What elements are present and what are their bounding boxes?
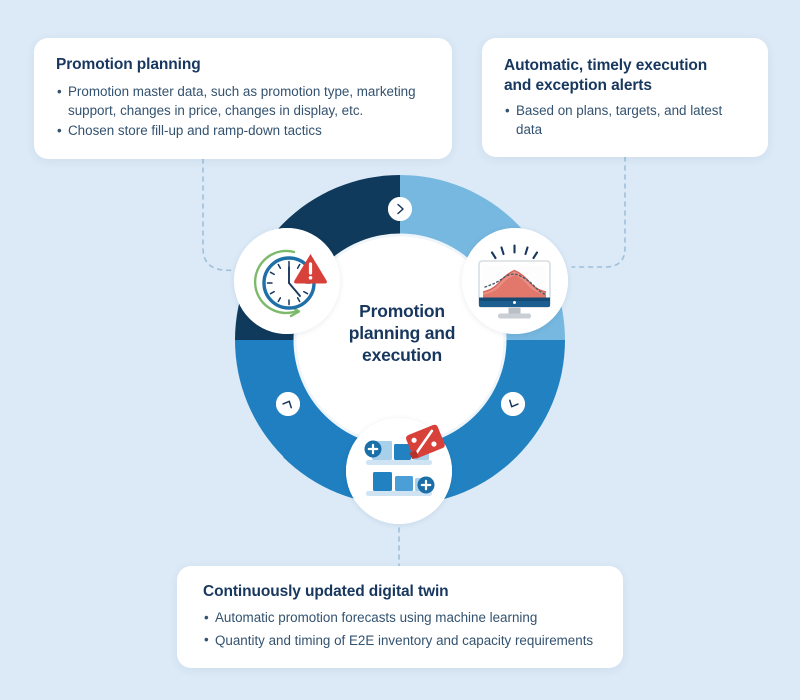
step-marker-bottom-right[interactable] xyxy=(501,392,525,416)
list-item: Quantity and timing of E2E inventory and… xyxy=(203,631,605,652)
hub-title-line-3: execution xyxy=(320,344,484,366)
chevron-down-left-icon xyxy=(501,392,525,416)
list-item: Based on plans, targets, and latest data xyxy=(504,102,750,139)
alerts-node[interactable] xyxy=(234,228,340,334)
shelf-node[interactable] xyxy=(346,418,452,524)
chevron-up-right-icon xyxy=(276,392,300,416)
card-digital-twin: Continuously updated digital twin Automa… xyxy=(177,566,623,668)
infographic-canvas: Promotion planning and execution xyxy=(0,0,800,700)
card-twin-title: Continuously updated digital twin xyxy=(203,583,605,601)
card-automatic-title-line-1: Automatic, timely execution xyxy=(504,56,750,76)
card-automatic-execution: Automatic, timely execution and exceptio… xyxy=(482,38,768,157)
card-automatic-title: Automatic, timely execution and exceptio… xyxy=(504,56,750,95)
card-planning-title: Promotion planning xyxy=(56,56,432,74)
card-automatic-title-line-2: and exception alerts xyxy=(504,76,750,96)
step-marker-bottom-left[interactable] xyxy=(276,392,300,416)
step-marker-top[interactable] xyxy=(388,197,412,221)
shelf-price-tag-icon xyxy=(346,418,452,524)
list-item: Chosen store fill-up and ramp-down tacti… xyxy=(56,122,432,141)
list-item: Automatic promotion forecasts using mach… xyxy=(203,608,605,629)
clock-warning-icon xyxy=(234,228,340,334)
hub-title-line-2: planning and xyxy=(320,322,484,344)
list-item: Promotion master data, such as promotion… xyxy=(56,83,432,120)
connector-automatic-to-forecast xyxy=(572,148,625,267)
monitor-forecast-icon xyxy=(462,228,568,334)
card-automatic-bullets: Based on plans, targets, and latest data xyxy=(504,102,750,139)
card-promotion-planning: Promotion planning Promotion master data… xyxy=(34,38,452,159)
card-planning-bullets: Promotion master data, such as promotion… xyxy=(56,83,432,141)
hub-title: Promotion planning and execution xyxy=(320,300,484,366)
card-twin-bullets: Automatic promotion forecasts using mach… xyxy=(203,608,605,651)
hub-title-line-1: Promotion xyxy=(320,300,484,322)
chevron-right-icon xyxy=(388,197,412,221)
forecast-node[interactable] xyxy=(462,228,568,334)
